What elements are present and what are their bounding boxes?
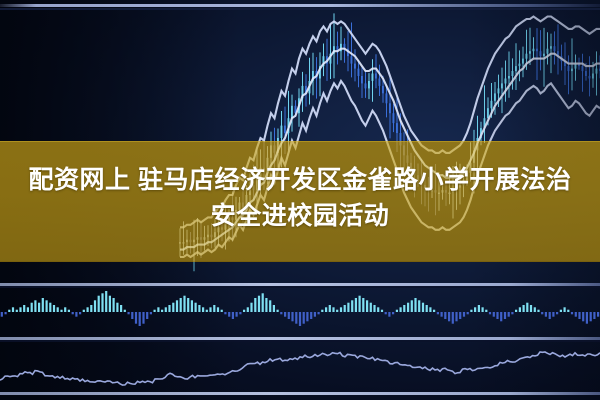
headline-line-2: 安全进校园活动 [18, 198, 582, 234]
headline-line-1: 配资网上 驻马店经济开发区金雀路小学开展法治 [18, 162, 582, 198]
indicator-line [0, 352, 600, 385]
banner-headline: 配资网上 驻马店经济开发区金雀路小学开展法治 安全进校园活动 [0, 162, 600, 234]
macd-bar-series [1, 291, 600, 326]
panel-separator-bottom [0, 392, 600, 395]
stock-chart-banner: 配资网上 驻马店经济开发区金雀路小学开展法治 安全进校园活动 [0, 0, 600, 400]
bottom-indicator-panel [0, 340, 600, 392]
top-divider-line [0, 4, 600, 7]
macd-histogram-panel [0, 286, 600, 338]
top-divider-shadow [0, 8, 600, 10]
